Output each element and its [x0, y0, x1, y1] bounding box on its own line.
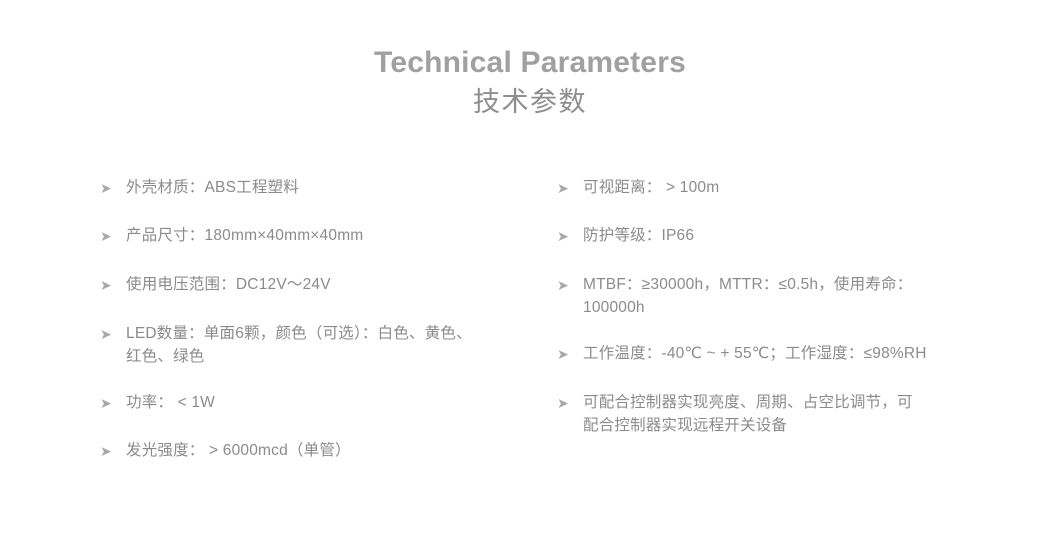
spec-item-label: 功率： < 1W	[126, 391, 540, 414]
spec-item-label: LED数量：单面6颗，颜色（可选）：白色、黄色、 红色、绿色	[126, 322, 540, 368]
spec-item-operating-temperature-humidity: ➤ 工作温度：-40℃ ~ + 55℃；工作湿度：≤98%RH	[557, 342, 987, 366]
spec-item-label: 可配合控制器实现亮度、周期、占空比调节，可 配合控制器实现远程开关设备	[583, 391, 987, 437]
arrow-bullet-icon: ➤	[100, 273, 126, 297]
arrow-bullet-icon: ➤	[557, 176, 583, 200]
spec-item-product-size: ➤ 产品尺寸：180mm×40mm×40mm	[100, 224, 540, 248]
arrow-bullet-icon: ➤	[100, 176, 126, 200]
arrow-bullet-icon: ➤	[557, 224, 583, 248]
spec-item-voltage-range: ➤ 使用电压范围：DC12V～24V	[100, 273, 540, 297]
spec-item-label: 工作温度：-40℃ ~ + 55℃；工作湿度：≤98%RH	[583, 342, 987, 365]
arrow-bullet-icon: ➤	[100, 322, 126, 346]
page-title-chinese: 技术参数	[0, 84, 1060, 120]
page-title-english: Technical Parameters	[0, 44, 1060, 82]
arrow-bullet-icon: ➤	[557, 273, 583, 297]
spec-item-label: 可视距离： > 100m	[583, 176, 987, 199]
spec-item-controller-features: ➤ 可配合控制器实现亮度、周期、占空比调节，可 配合控制器实现远程开关设备	[557, 391, 987, 437]
spec-item-label: MTBF：≥30000h，MTTR：≤0.5h，使用寿命： 100000h	[583, 273, 987, 319]
arrow-bullet-icon: ➤	[100, 439, 126, 463]
page-heading: Technical Parameters 技术参数	[0, 44, 1060, 120]
arrow-bullet-icon: ➤	[100, 224, 126, 248]
arrow-bullet-icon: ➤	[557, 342, 583, 366]
spec-item-mtbf-mttr-lifetime: ➤ MTBF：≥30000h，MTTR：≤0.5h，使用寿命： 100000h	[557, 273, 987, 319]
spec-item-luminous-intensity: ➤ 发光强度： > 6000mcd（单管）	[100, 439, 540, 463]
spec-item-label: 发光强度： > 6000mcd（单管）	[126, 439, 540, 462]
spec-item-led-count-color: ➤ LED数量：单面6颗，颜色（可选）：白色、黄色、 红色、绿色	[100, 322, 540, 368]
spec-item-label: 外壳材质：ABS工程塑料	[126, 176, 540, 199]
specifications-list: ➤ 外壳材质：ABS工程塑料 ➤ 产品尺寸：180mm×40mm×40mm ➤ …	[0, 176, 1060, 496]
spec-item-label: 防护等级：IP66	[583, 224, 987, 247]
technical-parameters-page: Technical Parameters 技术参数 ➤ 外壳材质：ABS工程塑料…	[0, 0, 1060, 536]
arrow-bullet-icon: ➤	[557, 391, 583, 415]
spec-item-power: ➤ 功率： < 1W	[100, 391, 540, 415]
spec-item-label: 产品尺寸：180mm×40mm×40mm	[126, 224, 540, 247]
spec-item-protection-level: ➤ 防护等级：IP66	[557, 224, 987, 248]
spec-item-visible-distance: ➤ 可视距离： > 100m	[557, 176, 987, 200]
spec-item-label: 使用电压范围：DC12V～24V	[126, 273, 540, 296]
spec-item-housing-material: ➤ 外壳材质：ABS工程塑料	[100, 176, 540, 200]
arrow-bullet-icon: ➤	[100, 391, 126, 415]
